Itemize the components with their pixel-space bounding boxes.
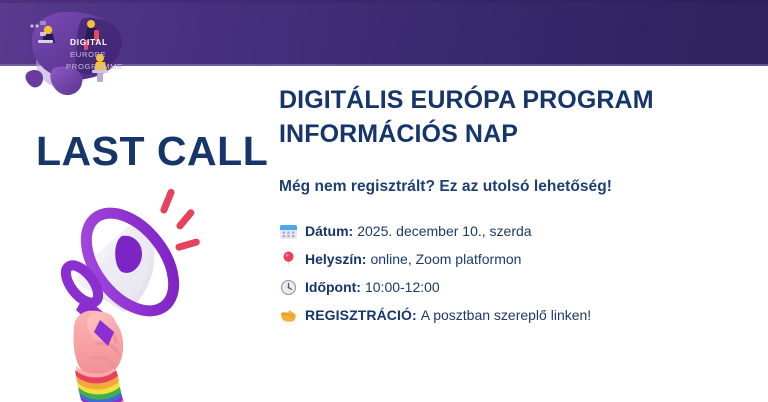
detail-label: Időpont: <box>305 278 361 297</box>
detail-value: A posztban szereplő linken! <box>421 306 591 325</box>
detail-value: 2025. december 10., szerda <box>357 222 531 241</box>
digital-europe-programme-logo: DIGITAL EUROPE PROGRAMME <box>18 2 138 100</box>
sound-lines <box>159 188 200 252</box>
subtitle: Még nem regisztrált? Ez az utolsó lehető… <box>279 178 749 196</box>
detail-label: Helyszín: <box>305 250 366 269</box>
event-details-list: Dátum: 2025. december 10., szerda Helysz… <box>279 222 749 325</box>
location-pin-icon <box>279 251 298 268</box>
content-column: DIGITÁLIS EURÓPA PROGRAM INFORMÁCIÓS NAP… <box>279 84 749 334</box>
title-line-2: INFORMÁCIÓS NAP <box>279 118 749 152</box>
detail-row-location: Helyszín: online, Zoom platformon <box>279 250 749 269</box>
detail-row-time: Időpont: 10:00-12:00 <box>279 278 749 297</box>
detail-value: 10:00-12:00 <box>365 278 440 297</box>
pointing-hand-icon <box>279 307 298 324</box>
detail-row-registration: REGISZTRÁCIÓ: A posztban szereplő linken… <box>279 306 749 325</box>
logo-line-2: EUROPE <box>70 50 106 59</box>
detail-row-date: Dátum: 2025. december 10., szerda <box>279 222 749 241</box>
megaphone-illustration <box>48 180 263 402</box>
detail-label: Dátum: <box>305 222 353 241</box>
calendar-icon <box>279 223 298 240</box>
logo-line-1: DIGITAL <box>70 37 108 47</box>
page-title: DIGITÁLIS EURÓPA PROGRAM INFORMÁCIÓS NAP <box>279 84 749 151</box>
last-call-headline: LAST CALL <box>36 128 268 175</box>
detail-label: REGISZTRÁCIÓ: <box>305 306 417 325</box>
detail-value: online, Zoom platformon <box>370 250 521 269</box>
title-line-1: DIGITÁLIS EURÓPA PROGRAM <box>279 86 654 114</box>
hand <box>74 310 124 377</box>
event-poster: DIGITAL EUROPE PROGRAMME LAST CALL <box>0 0 768 402</box>
clock-icon <box>279 279 298 296</box>
logo-line-3: PROGRAMME <box>66 62 123 71</box>
